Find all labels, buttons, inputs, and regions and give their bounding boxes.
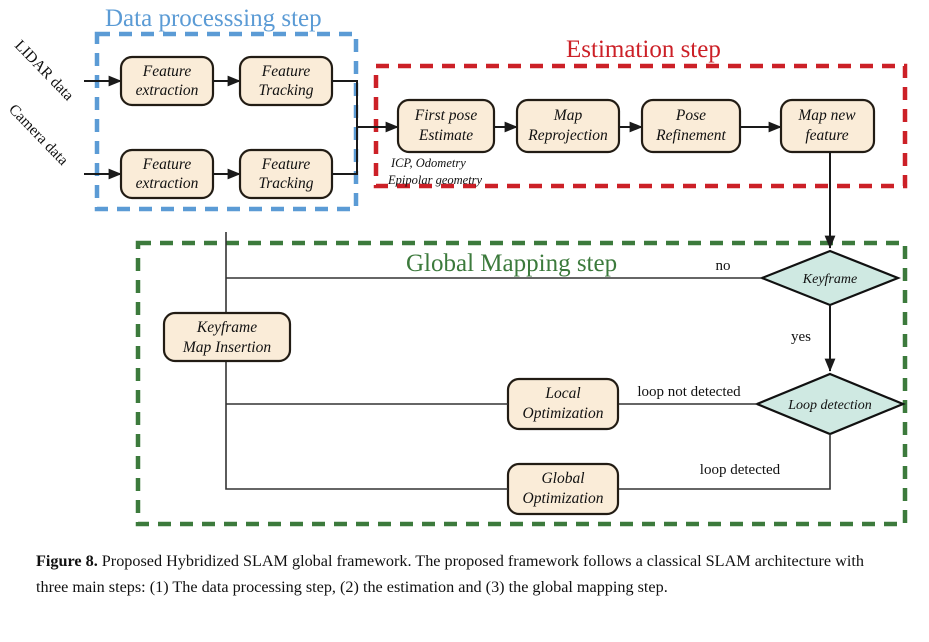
node-first-pose-estimate-line2: Estimate (418, 127, 473, 144)
figure-caption-text: Proposed Hybridized SLAM global framewor… (36, 552, 864, 596)
edge-global-optimization-to-spine (226, 404, 508, 489)
node-map-new-feature-line1: Map new (797, 107, 856, 124)
edge-label-keyframe-no: no (716, 258, 731, 274)
figure-caption-label: Figure 8. (36, 552, 98, 570)
node-map-new-feature-line2: feature (805, 127, 848, 144)
node-local-optimization-line1: Local (544, 385, 580, 402)
data-processing-group-title: Data processsing step (105, 5, 322, 32)
edge-label-loop-detected: loop detected (700, 462, 781, 478)
node-first-pose-estimate-line1: First pose (414, 107, 478, 124)
node-lidar-feature-extraction-line2: extraction (136, 82, 199, 99)
node-keyframe-map-insertion-line1: Keyframe (196, 319, 257, 336)
node-pose-refinement-line1: Pose (675, 107, 706, 124)
slam-framework-diagram: Data processsing step Estimation step Gl… (0, 0, 929, 536)
node-local-optimization-line2: Optimization (523, 405, 604, 422)
node-map-reprojection-line1: Map (553, 107, 583, 124)
decision-loop-detection-label: Loop detection (787, 398, 872, 413)
svg-text:Camera data: Camera data (5, 101, 71, 169)
node-lidar-feature-tracking-line2: Tracking (258, 82, 313, 99)
node-keyframe-map-insertion-line2: Map Insertion (182, 339, 272, 356)
figure-caption: Figure 8. Proposed Hybridized SLAM globa… (36, 548, 898, 600)
node-pose-refinement-line2: Refinement (655, 127, 726, 144)
node-global-optimization-line1: Global (541, 470, 584, 487)
decision-keyframe-label: Keyframe (802, 272, 857, 287)
node-map-reprojection-line2: Reprojection (527, 127, 608, 144)
first-pose-note-line1: ICP, Odometry (390, 156, 466, 170)
global-mapping-group-title: Global Mapping step (406, 250, 617, 277)
figure-container: Data processsing step Estimation step Gl… (0, 0, 929, 642)
edge-label-keyframe-yes: yes (791, 329, 811, 345)
node-camera-feature-extraction-line1: Feature (142, 156, 192, 173)
svg-text:LIDAR data: LIDAR data (11, 37, 77, 104)
input-label-lidar: LIDAR data (11, 37, 77, 104)
first-pose-note-line2: Epipolar geometry (387, 173, 483, 187)
node-lidar-feature-tracking-line1: Feature (261, 63, 311, 80)
input-label-camera: Camera data (5, 101, 71, 169)
node-global-optimization-line2: Optimization (523, 490, 604, 507)
node-lidar-feature-extraction-line1: Feature (142, 63, 192, 80)
edge-tracking-merge-to-first-pose (332, 81, 357, 174)
estimation-group-title: Estimation step (566, 36, 721, 63)
node-camera-feature-extraction-line2: extraction (136, 175, 199, 192)
node-camera-feature-tracking-line2: Tracking (258, 175, 313, 192)
edge-label-loop-not-detected: loop not detected (637, 384, 741, 400)
node-camera-feature-tracking-line1: Feature (261, 156, 311, 173)
